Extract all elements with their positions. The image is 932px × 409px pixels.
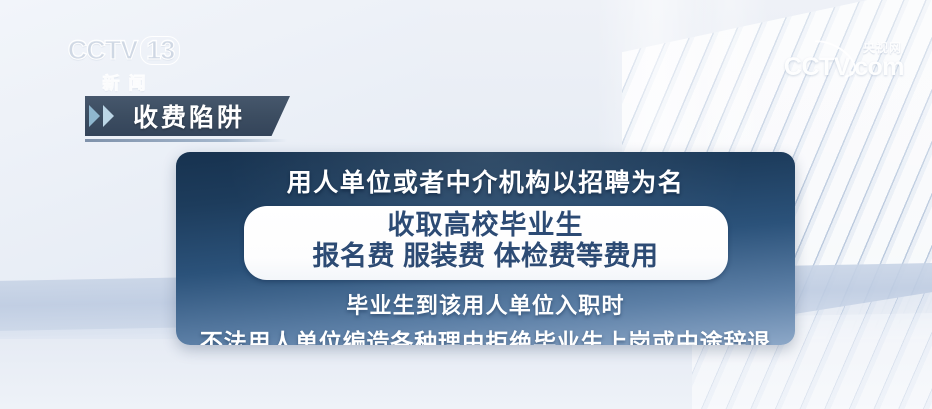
information-panel-content: 用人单位或者中介机构以招聘为名 收取高校毕业生 报名费 服装费 体检费等费用 毕… bbox=[176, 152, 795, 345]
topic-banner-title: 收费陷阱 bbox=[133, 96, 245, 136]
topic-banner: 收费陷阱 bbox=[85, 96, 290, 136]
cctv-website-watermark: 央视网 CCTV.com bbox=[784, 42, 904, 80]
banner-arrows bbox=[89, 105, 114, 127]
panel-detail-line-2: 不法用人单位编造各种理由拒绝毕业生上岗或中途辞退 bbox=[200, 323, 771, 345]
highlight-line-2: 报名费 服装费 体检费等费用 bbox=[244, 241, 728, 273]
channel-logo-brand-text: CCTV bbox=[68, 35, 138, 65]
topic-banner-underline bbox=[85, 139, 287, 142]
highlight-box: 收取高校毕业生 报名费 服装费 体检费等费用 bbox=[244, 206, 728, 280]
website-watermark-cn-label: 央视网 bbox=[863, 42, 902, 54]
panel-heading: 用人单位或者中介机构以招聘为名 bbox=[287, 163, 685, 199]
chevron-right-icon-1 bbox=[89, 105, 100, 127]
channel-logo-number: 13 bbox=[140, 36, 180, 65]
information-panel: 用人单位或者中介机构以招聘为名 收取高校毕业生 报名费 服装费 体检费等费用 毕… bbox=[176, 152, 795, 345]
channel-logo-brand: CCTV13 bbox=[54, 36, 194, 65]
broadcast-screen: CCTV13 新闻 央视网 CCTV.com 收费陷阱 用人单位或者中介机构以招… bbox=[0, 0, 932, 409]
channel-logo-sublabel: 新闻 bbox=[54, 69, 194, 94]
highlight-line-1: 收取高校毕业生 bbox=[244, 210, 728, 241]
chevron-right-icon-2 bbox=[103, 105, 114, 127]
cctv13-channel-logo: CCTV13 新闻 bbox=[54, 36, 194, 94]
panel-detail-line-1: 毕业生到该用人单位入职时 bbox=[346, 288, 624, 320]
